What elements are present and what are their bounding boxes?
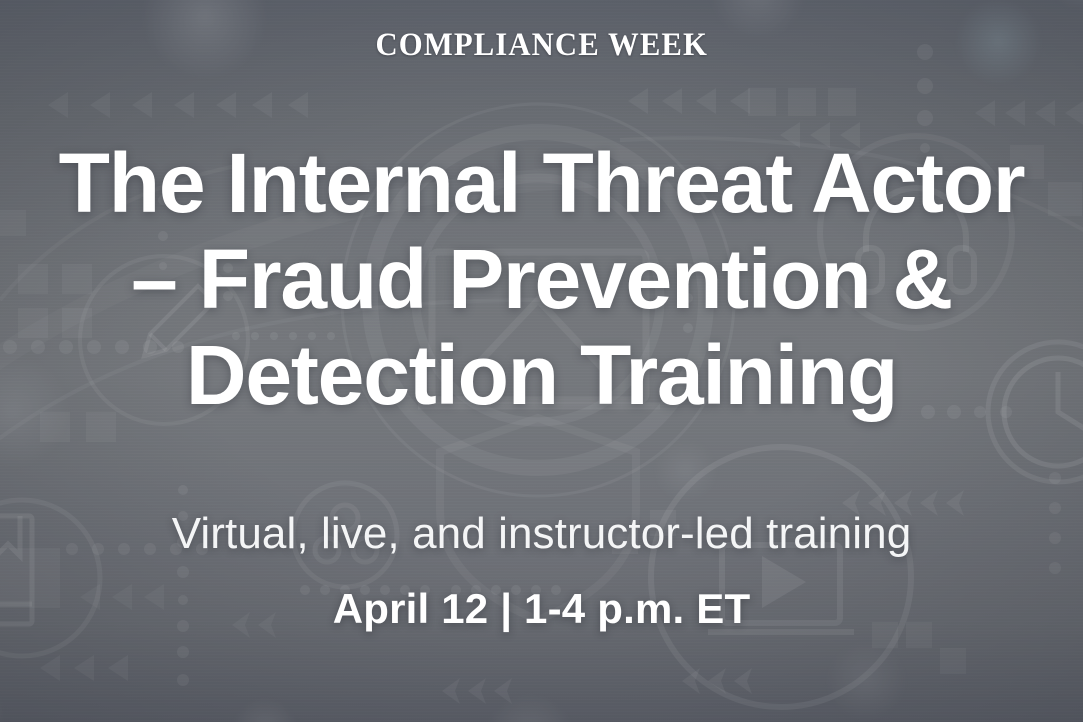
event-format-subtitle: Virtual, live, and instructor-led traini… bbox=[0, 510, 1083, 558]
promo-banner: COMPLIANCE WEEK The Internal Threat Acto… bbox=[0, 0, 1083, 722]
event-datetime: April 12 | 1-4 p.m. ET bbox=[0, 586, 1083, 632]
headline-line-2: – Fraud Prevention & bbox=[16, 231, 1067, 327]
headline-line-3: Detection Training bbox=[16, 327, 1067, 423]
page-title: The Internal Threat Actor – Fraud Preven… bbox=[0, 62, 1083, 423]
banner-content: COMPLIANCE WEEK The Internal Threat Acto… bbox=[0, 0, 1083, 722]
headline-line-1: The Internal Threat Actor bbox=[16, 135, 1067, 231]
compliance-week-logo: COMPLIANCE WEEK bbox=[375, 29, 707, 62]
